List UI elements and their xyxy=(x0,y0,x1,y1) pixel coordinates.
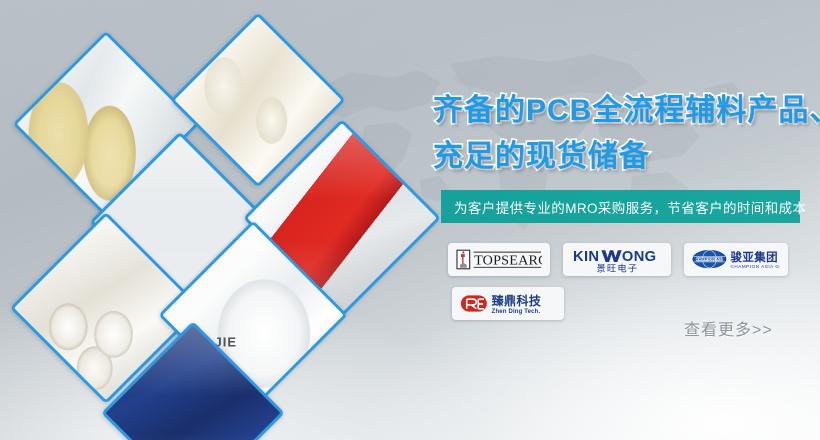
view-more-link[interactable]: 查看更多>> xyxy=(684,316,773,340)
svg-text:骏亚集团: 骏亚集团 xyxy=(731,249,779,263)
subtitle-bar: 为客户提供专业的MRO采购服务，节省客户的时间和成本 xyxy=(441,190,800,223)
headline-line-1: 齐备的PCB全流程辅料产品、 xyxy=(433,88,813,134)
kinwong-logo-icon: KIN ONG 景旺电子 xyxy=(571,246,663,274)
client-logo-zhending[interactable]: 臻鼎科技 Zhen Ding Tech. xyxy=(452,287,564,320)
zhending-logo-icon: 臻鼎科技 Zhen Ding Tech. xyxy=(460,291,556,317)
headline-line-2: 充足的现货储备 xyxy=(433,134,813,180)
svg-text:TOPSEARCH: TOPSEARCH xyxy=(474,252,542,268)
client-logo-topsearch[interactable]: TOPSEARCH xyxy=(448,243,550,276)
topsearch-logo-icon: TOPSEARCH xyxy=(456,248,542,271)
client-logo-champion-asia[interactable]: CHAMPION ASIA 骏亚集团 CHAMPION ASIA GROUP xyxy=(684,243,788,276)
svg-text:Zhen Ding Tech.: Zhen Ding Tech. xyxy=(492,309,541,315)
svg-text:CHAMPION ASIA GROUP: CHAMPION ASIA GROUP xyxy=(731,264,781,269)
client-logo-kinwong[interactable]: KIN ONG 景旺电子 xyxy=(563,243,671,276)
client-logo-row-1: TOPSEARCH KIN ONG 景旺电子 CHAMP xyxy=(448,243,800,276)
promo-banner: JIE 齐备的PCB全流程辅料产品、 充足的现货储备 为客户提供专业的MRO采购… xyxy=(0,0,820,440)
svg-text:CHAMPION ASIA: CHAMPION ASIA xyxy=(692,257,726,261)
svg-text:臻鼎科技: 臻鼎科技 xyxy=(492,292,542,307)
champion-asia-logo-icon: CHAMPION ASIA 骏亚集团 CHAMPION ASIA GROUP xyxy=(692,247,780,273)
svg-text:景旺电子: 景旺电子 xyxy=(596,262,638,273)
svg-text:ONG: ONG xyxy=(622,248,657,264)
subtitle-text: 为客户提供专业的MRO采购服务，节省客户的时间和成本 xyxy=(454,197,806,217)
svg-text:KIN: KIN xyxy=(573,248,599,264)
headline: 齐备的PCB全流程辅料产品、 充足的现货储备 xyxy=(433,88,813,180)
